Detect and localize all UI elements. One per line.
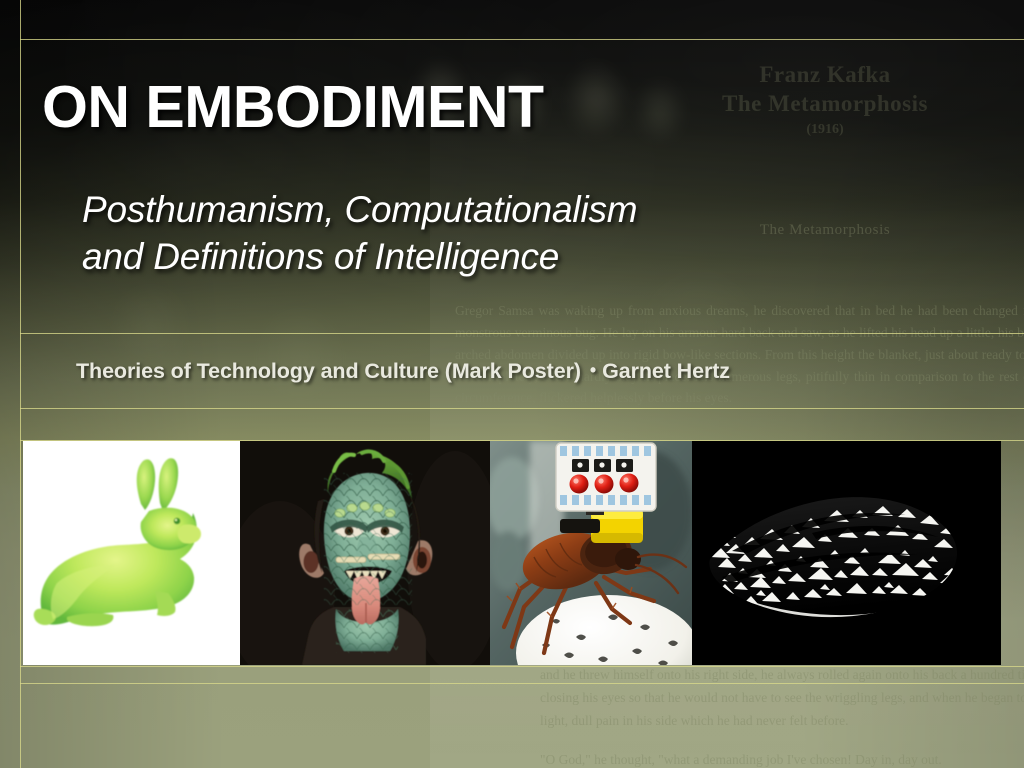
lizardman-portrait-illustration [240, 441, 490, 665]
gfp-bunny-illustration [23, 441, 240, 665]
slide-subtitle: Posthumanism, Computationalism and Defin… [82, 186, 637, 281]
horizontal-rule-bottom [20, 683, 1024, 684]
strip-image-cone-shell [692, 441, 1001, 665]
byline-separator-bullet: • [581, 360, 602, 381]
strip-image-gfp-bunny [23, 441, 240, 665]
cockroach-robot-illustration [490, 441, 692, 665]
vertical-guide-rule [20, 0, 21, 768]
slide-subtitle-line-2: and Definitions of Intelligence [82, 233, 637, 280]
slide-title: ON EMBODIMENT [42, 78, 544, 137]
horizontal-rule-byline-bottom [20, 408, 1024, 409]
slide-subtitle-line-1: Posthumanism, Computationalism [82, 186, 637, 233]
byline-course: Theories of Technology and Culture (Mark… [76, 359, 581, 383]
cone-shell-illustration [692, 441, 1001, 665]
horizontal-rule-strip-bottom [20, 666, 1024, 667]
byline-author: Garnet Hertz [602, 359, 730, 383]
slide-byline: Theories of Technology and Culture (Mark… [76, 359, 730, 384]
strip-image-lizardman [240, 441, 490, 665]
horizontal-rule-byline-top [20, 333, 1024, 334]
presentation-slide: Franz Kafka The Metamorphosis (1916) The… [0, 0, 1024, 768]
strip-image-cockroach-robot [490, 441, 692, 665]
horizontal-rule-top [20, 39, 1024, 40]
image-strip [23, 441, 1001, 665]
